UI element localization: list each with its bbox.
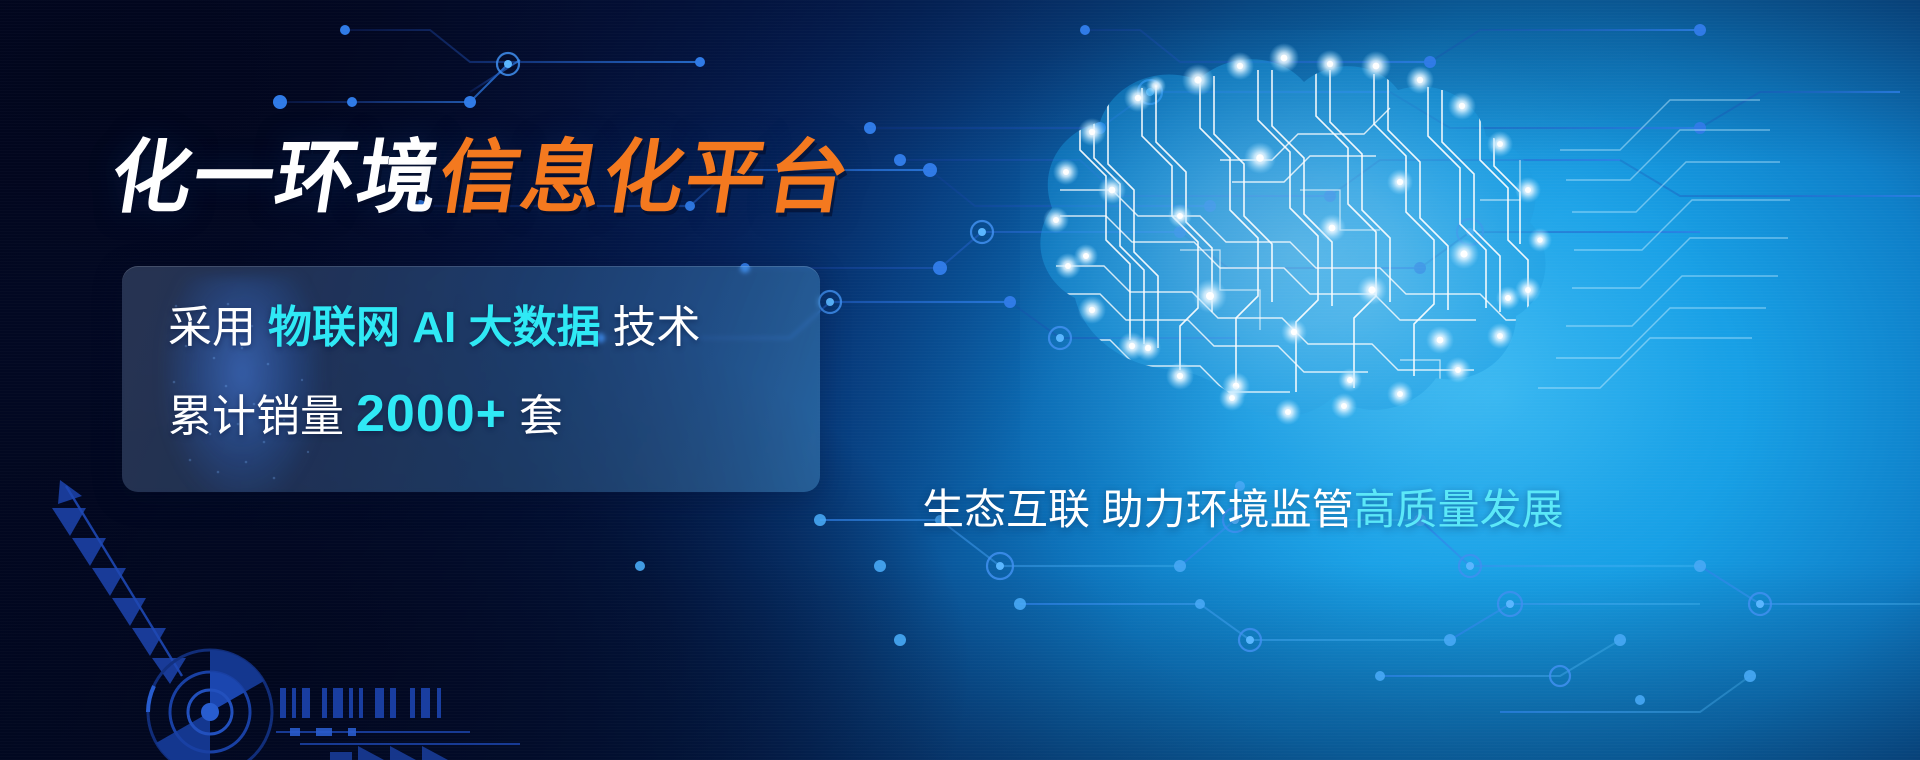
hud-circle-icon	[148, 650, 272, 760]
panel-line-sales: 累计销量2000+套	[168, 388, 820, 440]
info-panel: 采用物联网 AI 大数据技术 累计销量2000+套	[122, 266, 820, 492]
panel-line1-prefix: 采用	[168, 303, 256, 352]
panel-line1-highlight: 物联网 AI 大数据	[268, 303, 600, 352]
panel-line2-number: 2000+	[356, 385, 507, 443]
panel-line2-prefix: 累计销量	[168, 392, 344, 441]
panel-line-technology: 采用物联网 AI 大数据技术	[168, 306, 820, 350]
panel-line2-suffix: 套	[519, 392, 563, 441]
tagline-cyan-text: 高质量发展	[1354, 486, 1564, 533]
panel-line1-suffix: 技术	[612, 303, 700, 352]
tagline-white-text: 生态互联 助力环境监管	[922, 486, 1354, 533]
headline-orange-text: 信息化平台	[433, 133, 857, 222]
headline-white-text: 化一环境	[105, 133, 447, 222]
hud-decoration-graphic	[0, 460, 760, 760]
circuit-brain-icon	[880, 40, 1820, 560]
banner-root: 化一环境信息化平台 采用物联网 AI 大数据技术 累计销量2000+套	[0, 0, 1920, 760]
bar-glyph-strip	[280, 688, 441, 718]
arrow-triangles-icon	[52, 480, 186, 684]
banner-headline: 化一环境信息化平台	[106, 138, 857, 218]
banner-tagline: 生态互联 助力环境监管高质量发展	[922, 489, 1564, 531]
triangle-row-icon	[330, 746, 448, 760]
